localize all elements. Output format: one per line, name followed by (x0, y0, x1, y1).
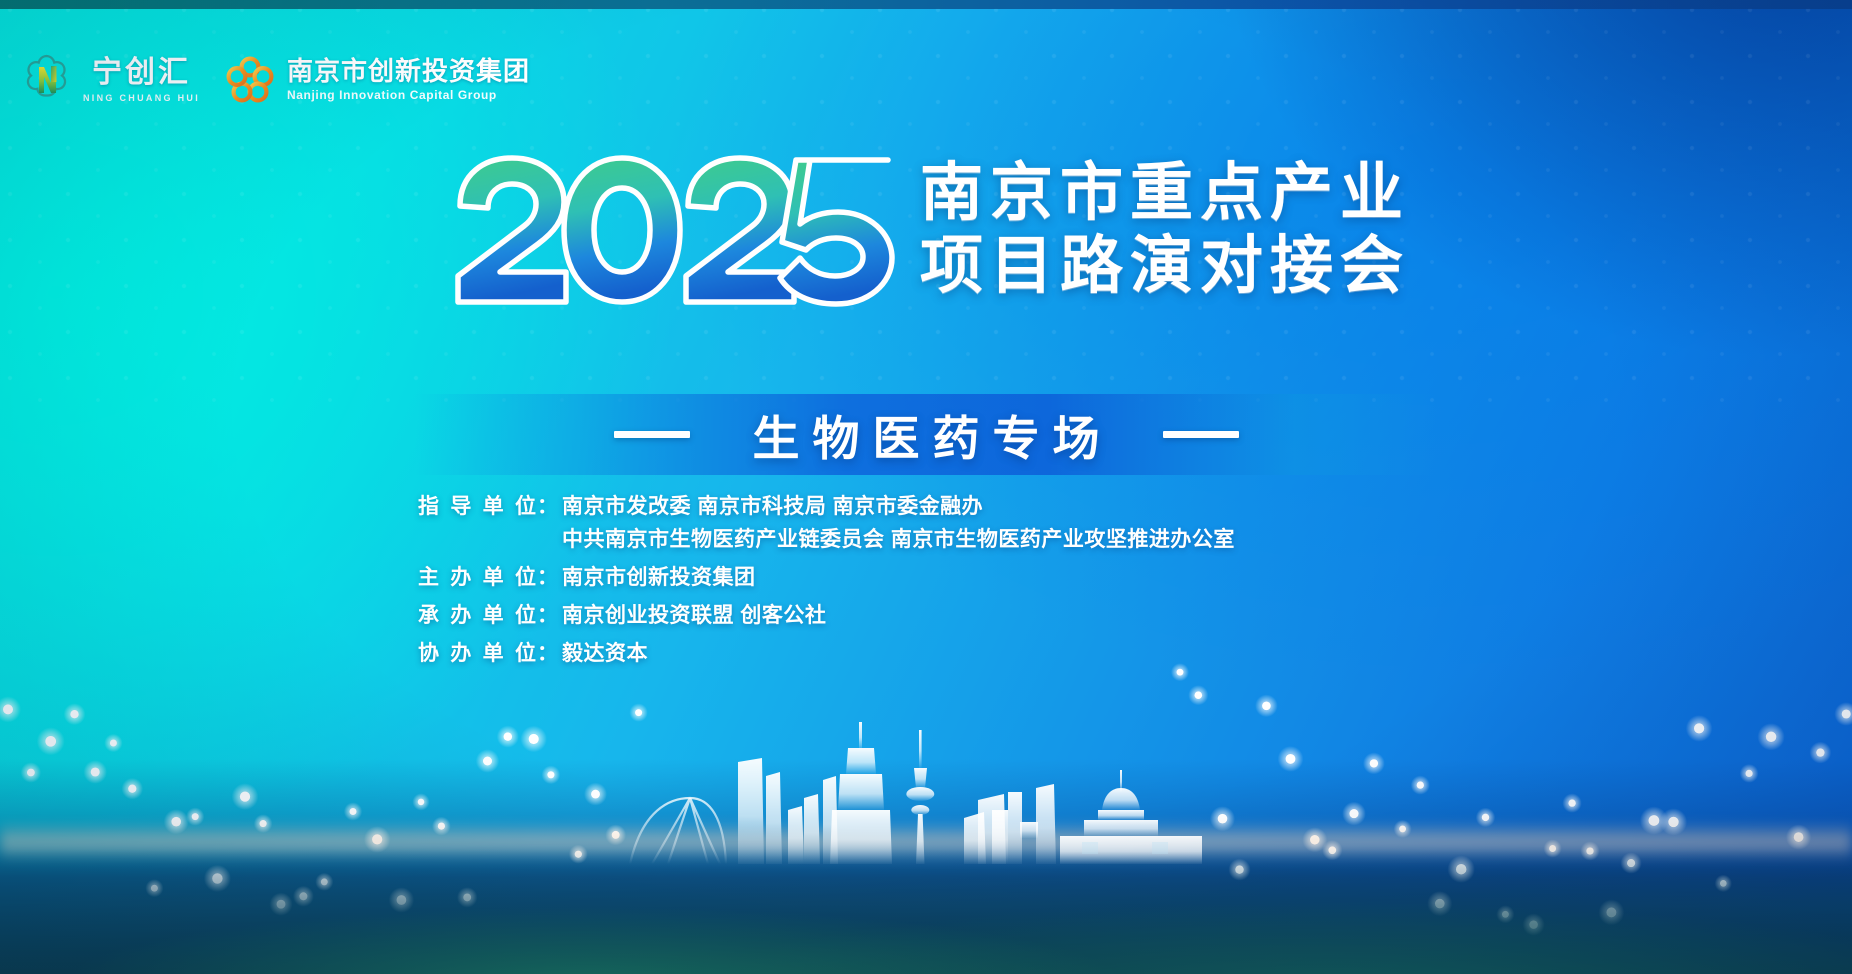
title-line-1: 南京市重点产业 (920, 158, 1410, 229)
organizer-label: 承办单位 (418, 599, 536, 632)
organizer-value: 南京市发改委 南京市科技局 南京市委金融办 (562, 490, 1235, 523)
bridge-arch (630, 798, 726, 864)
tower-right-3 (992, 810, 1008, 864)
plum-blossom-n-icon (18, 52, 74, 108)
poster-canvas: 宁创汇 NING CHUANG HUI (0, 0, 1852, 974)
logo-en-text: Nanjing Innovation Capital Group (287, 88, 530, 102)
zifeng-tower (823, 722, 892, 864)
tower-slab-3 (788, 806, 804, 864)
tower-slab-2 (766, 772, 782, 864)
h-shaped-tower (1008, 784, 1056, 864)
subtitle-text: 生物医药专场 (740, 400, 1113, 469)
dome-building (1060, 770, 1202, 864)
main-title-block: 南京市重点产业 项目路演对接会 (0, 152, 1852, 308)
ning-chuang-hui-wordmark: 宁创汇 NING CHUANG HUI (83, 58, 200, 103)
dash-left-icon (614, 431, 690, 438)
logo-bar: 宁创汇 NING CHUANG HUI (18, 52, 530, 108)
organizer-list: 指导单位 ： 南京市发改委 南京市科技局 南京市委金融办 中共南京市生物医药产业… (418, 490, 1235, 675)
title-line-2: 项目路演对接会 (920, 231, 1410, 302)
organizer-row: 协办单位 ： 毅达资本 (418, 637, 1235, 670)
organizer-value: 中共南京市生物医药产业链委员会 南京市生物医药产业攻坚推进办公室 (562, 523, 1235, 556)
organizer-colon: ： (537, 561, 558, 594)
dash-right-icon (1163, 431, 1239, 438)
top-edge-strip (0, 0, 1852, 9)
organizer-row: 主办单位 ： 南京市创新投资集团 (418, 561, 1235, 594)
nanjing-city-skyline-icon (612, 714, 1252, 904)
organizer-colon: ： (537, 599, 558, 632)
organizer-label: 协办单位 (418, 637, 536, 670)
logo-cn-text: 宁创汇 (92, 58, 191, 88)
organizer-colon: ： (537, 490, 558, 523)
logo-cn-text: 南京市创新投资集团 (287, 58, 530, 84)
year-2025-logotype (442, 152, 898, 308)
organizer-value: 南京创业投资联盟 创客公社 (562, 599, 826, 632)
interlocking-petals-icon (222, 52, 278, 108)
organizer-row: 指导单位 ： 南京市发改委 南京市科技局 南京市委金融办 中共南京市生物医药产业… (418, 490, 1235, 556)
organizer-value: 毅达资本 (562, 637, 648, 670)
organizer-colon: ： (537, 637, 558, 670)
organizer-row: 承办单位 ： 南京创业投资联盟 创客公社 (418, 599, 1235, 632)
tv-tower (906, 730, 934, 864)
tower-slab-1 (738, 758, 764, 864)
main-title-text: 南京市重点产业 项目路演对接会 (920, 158, 1410, 301)
subtitle-row: 生物医药专场 (0, 394, 1852, 475)
logo-en-text: NING CHUANG HUI (83, 93, 200, 103)
logo-ning-chuang-hui[interactable]: 宁创汇 NING CHUANG HUI (18, 52, 200, 108)
nicg-wordmark: 南京市创新投资集团 Nanjing Innovation Capital Gro… (287, 58, 530, 102)
tower-slab-4 (804, 794, 820, 864)
organizer-label: 指导单位 (418, 490, 536, 523)
organizer-label: 主办单位 (418, 561, 536, 594)
logo-nanjing-innovation-capital-group[interactable]: 南京市创新投资集团 Nanjing Innovation Capital Gro… (222, 52, 530, 108)
organizer-value: 南京市创新投资集团 (562, 561, 756, 594)
